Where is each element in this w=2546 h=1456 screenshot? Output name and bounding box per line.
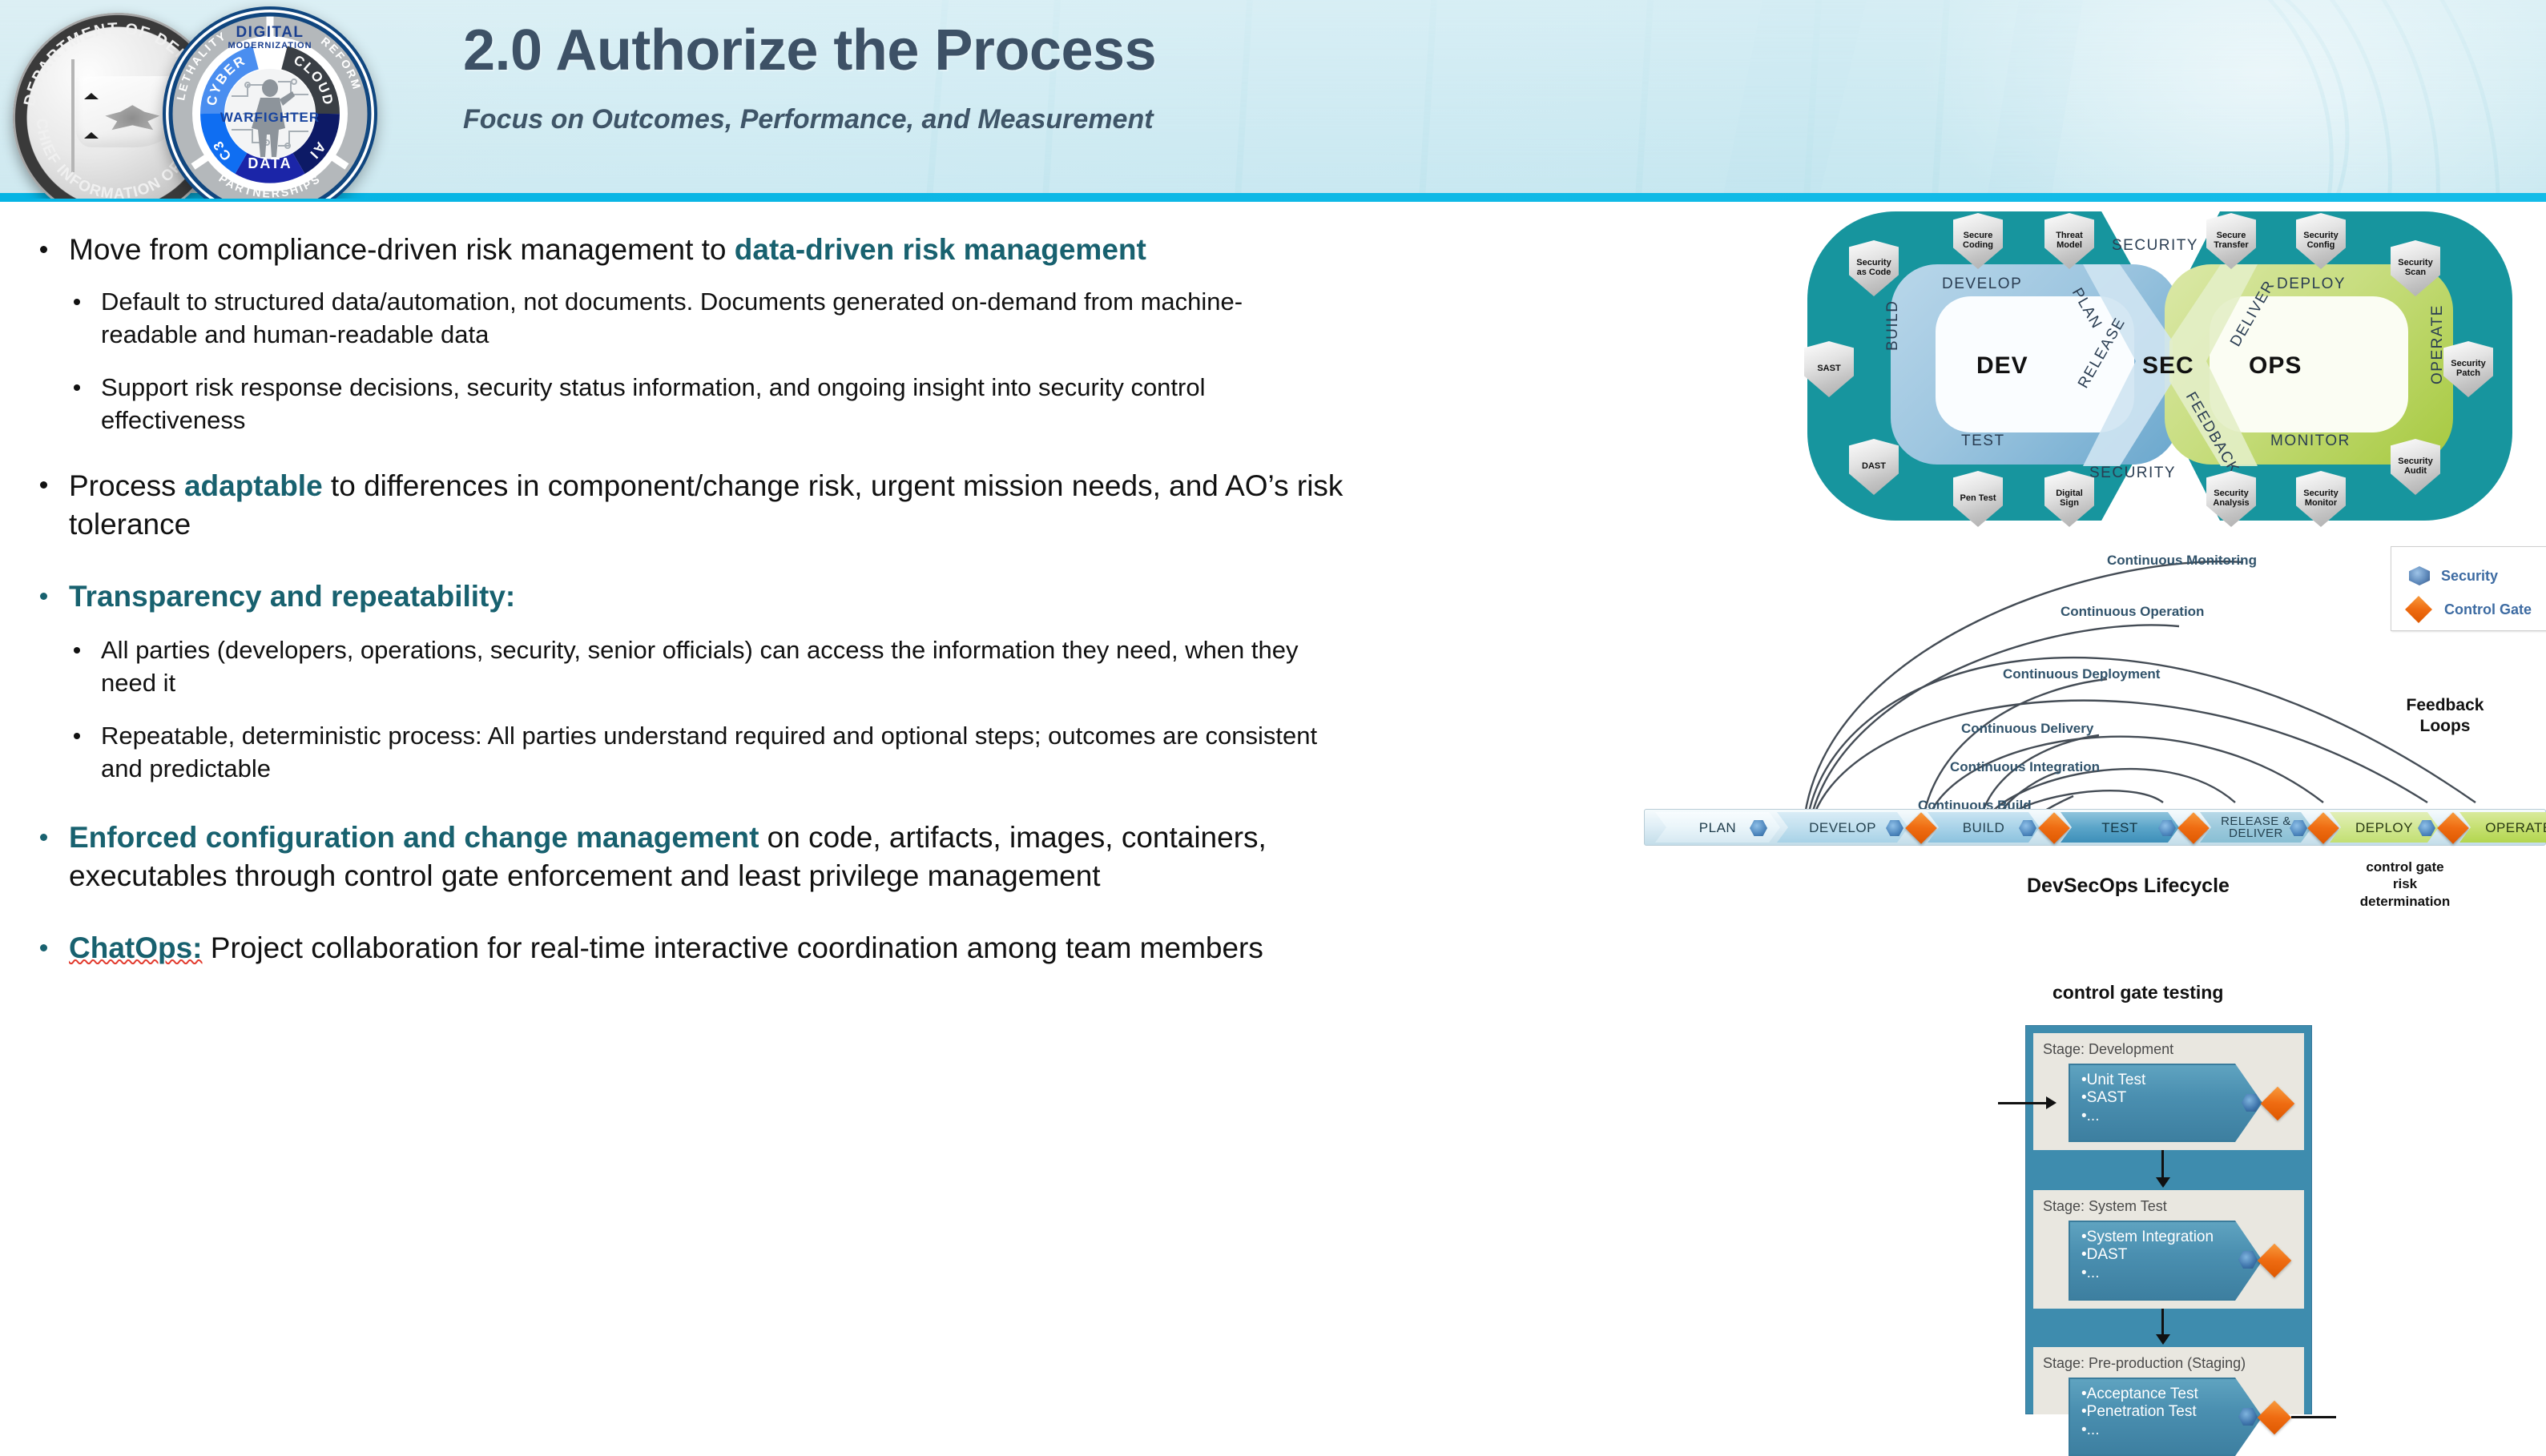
feedback-loops-label: Feedback Loops: [2381, 695, 2509, 738]
cgt-connector-line: [2161, 1150, 2164, 1179]
bullet-marker: [74, 647, 80, 654]
bullet-item: ChatOps: Project collaboration for real-…: [0, 929, 1434, 967]
ops-lobe-inner: [2210, 296, 2408, 432]
cgt-test-chevron: •Unit Test •SAST •...: [2069, 1064, 2262, 1142]
bullet-text-part: Process: [69, 469, 184, 502]
dev-lobe: [1891, 264, 2179, 465]
control-gate-testing-title: control gate testing: [2053, 982, 2223, 1004]
security-bottom-label: SECURITY: [2089, 465, 2176, 482]
bullet-marker: [40, 834, 47, 841]
bullet-text-accent: Transparency and repeatability:: [69, 580, 515, 613]
shield-label: Security as Code: [1851, 259, 1896, 277]
shield-label: Digital Sign: [2047, 489, 2092, 508]
legend-label-security: Security: [2441, 568, 2498, 585]
feedback-loops-line2: Loops: [2420, 717, 2471, 735]
bullet-marker: [74, 299, 80, 305]
cgt-test-item: •Acceptance Test: [2081, 1386, 2261, 1403]
stage-build-label: BUILD: [1884, 300, 1902, 351]
arc-label-continuous-operation: Continuous Operation: [2061, 604, 2204, 620]
bullet-marker: [40, 246, 47, 253]
shield-label: Secure Coding: [1956, 231, 2000, 250]
cgt-connector-head: [2156, 1334, 2170, 1345]
cgt-stage-label: Stage: System Test: [2043, 1198, 2167, 1215]
cgt-test-item: •System Integration: [2081, 1229, 2261, 1246]
cgt-test-chevron: •System Integration •DAST •...: [2069, 1221, 2262, 1301]
cg-note-line3: determination: [2360, 894, 2450, 909]
lifecycle-stage-operate[interactable]: OPERATE: [2459, 812, 2546, 843]
seal-group: DEPARTMENT OF DEFENSE CHIEF INFORMATION …: [6, 2, 423, 199]
bullet-marker: [40, 593, 47, 600]
control-gate-diamond-icon: [2405, 596, 2432, 623]
cgt-test-item: •DAST: [2081, 1246, 2261, 1264]
dm-top-sublabel: MODERNIZATION: [228, 41, 312, 50]
security-top-label: SECURITY: [2112, 237, 2198, 255]
flag-star-top: [84, 93, 99, 99]
dm-top-label: DIGITAL: [236, 24, 304, 41]
bullet-text-part: Project collaboration for real-time inte…: [203, 931, 1263, 964]
bullet-text-accent: Enforced configuration and change manage…: [69, 821, 759, 854]
cgt-stage-label: Stage: Pre-production (Staging): [2043, 1355, 2246, 1372]
slide-body: Move from compliance-driven risk managem…: [0, 202, 1642, 1414]
shield-label: Security Analysis: [2209, 489, 2254, 508]
shield-label: Security Scan: [2393, 259, 2438, 277]
cgt-outbound-arrow-line: [2291, 1416, 2336, 1418]
cgt-test-item: •Penetration Test: [2081, 1403, 2261, 1421]
bullet-text-accent-misspelled: ChatOps:: [69, 931, 203, 964]
shield-label: Pen Test: [1960, 494, 1996, 504]
bullet-item: Process adaptable to differences in comp…: [0, 467, 1442, 544]
dod-flag: [76, 76, 173, 147]
stage-deploy-label: DEPLOY: [2277, 276, 2346, 293]
cgt-test-chevron: •Acceptance Test •Penetration Test •...: [2069, 1378, 2262, 1456]
flag-pole: [71, 59, 75, 172]
sub-bullet-text: Support risk response decisions, securit…: [101, 373, 1206, 434]
cgt-inbound-arrow-head: [2046, 1096, 2057, 1109]
eagle-emblem: [105, 105, 159, 139]
lifecycle-title: DevSecOps Lifecycle: [2027, 875, 2230, 898]
legend-row-security: Security: [2409, 566, 2498, 585]
bullet-marker: [74, 384, 80, 391]
stage-test-label: TEST: [1961, 432, 2005, 450]
cg-note-line2: risk: [2393, 876, 2417, 891]
devsecops-lifecycle-diagram: Continuous Monitoring Continuous Operati…: [1682, 538, 2546, 955]
cg-note-line1: control gate: [2366, 859, 2443, 875]
shield-label: Security Monitor: [2298, 489, 2343, 508]
cgt-test-item: •SAST: [2081, 1089, 2261, 1107]
control-gate-testing-diagram: control gate testing Stage: Development …: [1993, 975, 2546, 1414]
legend-label-control-gate: Control Gate: [2444, 601, 2532, 618]
cgt-inbound-arrow-line: [1998, 1102, 2048, 1104]
bullet-item: Move from compliance-driven risk managem…: [0, 231, 1642, 269]
dm-center-label: WARFIGHTER: [220, 110, 320, 125]
stage-develop-label: DEVELOP: [1942, 276, 2022, 293]
bullet-text-accent: data-driven risk management: [735, 233, 1146, 266]
sec-label: SEC: [2142, 352, 2194, 380]
cgt-connector-head: [2156, 1177, 2170, 1188]
dm-segment-data: DATA: [248, 155, 292, 171]
flag-star-bottom: [84, 132, 99, 139]
digital-modernization-seal: WARFIGHTER DIGITAL MODERNIZATION CYBER C…: [163, 6, 377, 199]
legend-row-control-gate: Control Gate: [2409, 600, 2532, 619]
cgt-test-item: •...: [2081, 1265, 2261, 1282]
shield-label: Threat Model: [2047, 231, 2092, 250]
ops-label: OPS: [2249, 352, 2302, 380]
feedback-loops-line1: Feedback: [2407, 696, 2484, 714]
sub-bullet-text: Default to structured data/automation, n…: [101, 288, 1243, 348]
shield-label: Security Audit: [2393, 457, 2438, 476]
stage-monitor-label: MONITOR: [2270, 432, 2351, 450]
shield-label: Security Patch: [2446, 360, 2491, 378]
bullet-marker: [40, 944, 47, 951]
sub-bullet-text: All parties (developers, operations, sec…: [101, 636, 1299, 697]
page-title: 2.0 Authorize the Process: [463, 18, 1156, 83]
bullet-marker: [40, 481, 47, 489]
cgt-stage-label: Stage: Development: [2043, 1041, 2173, 1058]
shield-label: Secure Transfer: [2209, 231, 2254, 250]
arc-label-continuous-integration: Continuous Integration: [1950, 759, 2100, 775]
bullet-item: Transparency and repeatability:: [0, 577, 1642, 616]
dev-label: DEV: [1976, 352, 2028, 380]
security-hex-icon: [2409, 566, 2430, 585]
arc-label-continuous-deployment: Continuous Deployment: [2003, 666, 2160, 682]
shield-label: Security Config: [2298, 231, 2343, 250]
cgt-test-item: •...: [2081, 1108, 2261, 1125]
control-gate-risk-note: control gate risk determination: [2333, 859, 2477, 910]
bullet-marker: [74, 733, 80, 739]
sub-bullet-item: All parties (developers, operations, sec…: [0, 633, 1354, 699]
bullet-text-accent: adaptable: [184, 469, 323, 502]
sub-bullet-item: Default to structured data/automation, n…: [0, 285, 1314, 351]
shield-label: SAST: [1817, 364, 1840, 374]
arc-label-continuous-monitoring: Continuous Monitoring: [2107, 553, 2257, 569]
cgt-connector-line: [2161, 1309, 2164, 1336]
sub-bullet-text: Repeatable, deterministic process: All p…: [101, 722, 1317, 782]
page-subtitle: Focus on Outcomes, Performance, and Meas…: [463, 104, 1154, 135]
shield-label: DAST: [1862, 462, 1886, 472]
lifecycle-legend: Security Control Gate: [2391, 546, 2546, 631]
bullet-text-part: Move from compliance-driven risk managem…: [69, 233, 735, 266]
slide-header: DEPARTMENT OF DEFENSE CHIEF INFORMATION …: [0, 0, 2546, 199]
devsecops-infinity-diagram: DEV SEC OPS SECURITY SECURITY DEVELOP TE…: [1796, 199, 2546, 535]
cgt-test-item: •...: [2081, 1422, 2261, 1439]
bullet-list: Move from compliance-driven risk managem…: [0, 231, 1642, 967]
sub-bullet-item: Repeatable, deterministic process: All p…: [0, 719, 1362, 785]
bullet-item: Enforced configuration and change manage…: [0, 818, 1410, 895]
sub-bullet-item: Support risk response decisions, securit…: [0, 371, 1354, 436]
cgt-test-item: •Unit Test: [2081, 1072, 2261, 1089]
arc-label-continuous-delivery: Continuous Delivery: [1961, 721, 2093, 737]
